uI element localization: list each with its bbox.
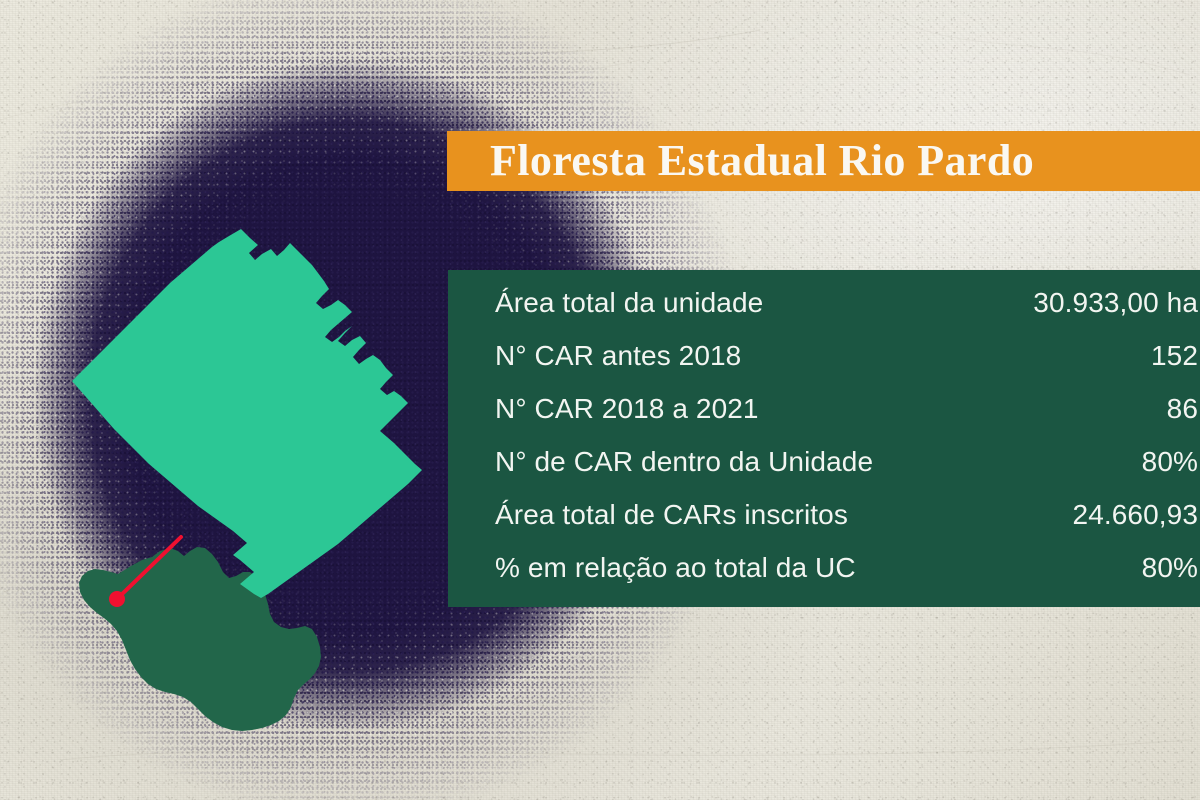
- row-value: 80%: [1142, 446, 1200, 478]
- row-label: N° CAR 2018 a 2021: [495, 393, 759, 425]
- table-row: % em relação ao total da UC 80%: [495, 552, 1200, 605]
- table-row: Área total de CARs inscritos 24.660,93: [495, 499, 1200, 552]
- row-value: 30.933,00 ha: [1033, 287, 1200, 319]
- table-row: Área total da unidade 30.933,00 ha: [495, 287, 1200, 340]
- statistics-row-list: Área total da unidade 30.933,00 ha N° CA…: [495, 287, 1200, 605]
- row-value: 86: [1167, 393, 1200, 425]
- row-label: Área total de CARs inscritos: [495, 499, 848, 531]
- row-value: 24.660,93: [1073, 499, 1200, 531]
- statistics-panel: Área total da unidade 30.933,00 ha N° CA…: [448, 270, 1200, 607]
- infographic-canvas: Floresta Estadual Rio Pardo Área total d…: [0, 0, 1200, 800]
- page-title: Floresta Estadual Rio Pardo: [447, 139, 1034, 183]
- locator-marker-dot: [109, 591, 125, 607]
- row-value: 80%: [1142, 552, 1200, 584]
- row-label: Área total da unidade: [495, 287, 763, 319]
- table-row: N° CAR antes 2018 152: [495, 340, 1200, 393]
- table-row: N° CAR 2018 a 2021 86: [495, 393, 1200, 446]
- row-label: N° CAR antes 2018: [495, 340, 741, 372]
- title-banner: Floresta Estadual Rio Pardo: [447, 131, 1200, 191]
- row-label: % em relação ao total da UC: [495, 552, 856, 584]
- table-row: N° de CAR dentro da Unidade 80%: [495, 446, 1200, 499]
- row-label: N° de CAR dentro da Unidade: [495, 446, 873, 478]
- protected-unit-polygon: [72, 229, 422, 598]
- row-value: 152: [1151, 340, 1200, 372]
